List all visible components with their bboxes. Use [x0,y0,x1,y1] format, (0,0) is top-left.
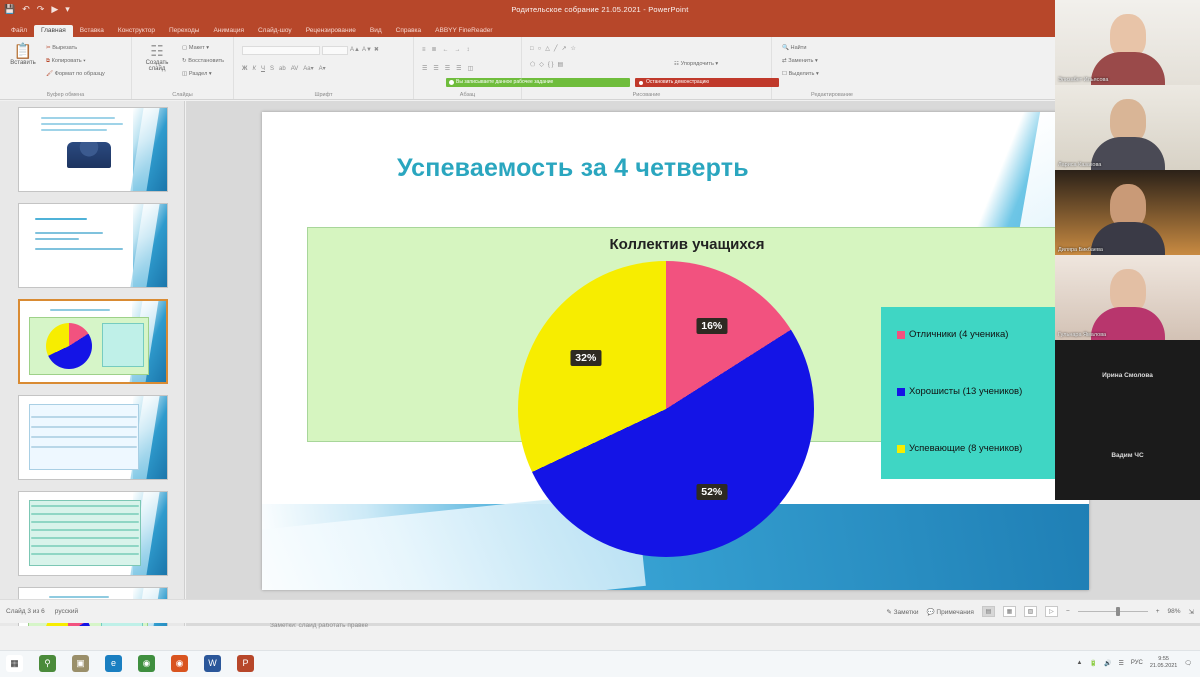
section-button[interactable]: ◫ Раздел ▾ [182,71,212,77]
powerpoint-window: 💾 ↶ ↷ ▶ ▾ Родительское собрание 21.05.20… [0,0,1200,650]
title-bar: 💾 ↶ ↷ ▶ ▾ Родительское собрание 21.05.20… [0,0,1200,22]
group-label-slides: Слайды [132,92,233,98]
justify-icon[interactable]: ☰ [456,65,461,74]
ribbon-tab-3[interactable]: Конструктор [111,25,162,37]
pie-label-2: 32% [570,350,601,366]
group-label-editing: Редактирование [772,92,892,98]
slide-thumbnail-1[interactable]: 1 [18,107,168,192]
legend-marker-1 [897,388,905,396]
video-tile-1[interactable]: Лариса Казакова [1055,85,1200,170]
participant-body [1091,137,1165,170]
legend-item-1[interactable]: Хорошисты (13 учеников) [909,386,1022,397]
participant-name: Ирина Смолова [1055,372,1200,379]
decrease-indent-icon[interactable]: ← [443,46,449,55]
pie-slices[interactable] [518,261,814,557]
paste-label: Вставить [10,60,35,66]
status-left: Слайд 3 из 6 русский [6,608,78,615]
stop-sharing-label: Остановить демонстрацию [646,79,709,85]
font-name-box[interactable] [242,46,320,55]
normal-view-button[interactable]: ▤ [982,606,995,617]
system-tray[interactable]: ▲ 🔋 🔊 ☰ РУС 9:55 21.05.2021 🗨 [1077,656,1192,670]
paste-button[interactable]: 📋 Вставить [6,43,40,66]
comments-button[interactable]: 💬 Примечания [927,608,974,616]
font-size-box[interactable] [322,46,348,55]
font-name-row[interactable]: A▲ A▼ ✖ [242,46,379,55]
legend-marker-2 [897,445,905,453]
shape-star-icon[interactable]: ☆ [571,45,576,54]
video-conference-panel[interactable]: Элизабет ИльясоваЛариса КазаковаДиляра Б… [1055,0,1200,500]
taskview-icon[interactable]: ▣ [72,655,89,672]
show-hidden-icon[interactable]: ▲ [1077,660,1083,666]
arrange-button[interactable]: ☷ Упорядочить ▾ [674,61,718,67]
italic-icon[interactable]: К [252,65,256,74]
powerpoint-icon[interactable]: P [237,655,254,672]
shapes-gallery[interactable]: □ ○ △ ╱ ↗ ☆ [530,45,576,54]
paste-icon: 📋 [6,43,40,60]
shape-callout-icon[interactable]: ▤ [558,61,564,70]
status-bar: Слайд 3 из 6 русский ✎ Заметки 💬 Примеча… [0,599,1200,623]
group-label-paragraph: Абзац [414,92,521,98]
paragraph-row-2[interactable]: ☰ ☰ ☰ ☰ ◫ [422,65,473,74]
stop-sharing-button[interactable]: Остановить демонстрацию [635,78,779,87]
shadow-icon[interactable]: S [270,65,274,74]
slide-indicator[interactable]: Слайд 3 из 6 [6,608,45,615]
slide-thumbnail-2[interactable]: 2 [18,203,168,288]
reset-button[interactable]: ↻ Восстановить [182,58,224,64]
thumb-pie-icon [46,323,92,369]
ribbon-group-font: A▲ A▼ ✖ Ж К Ч S ab AV Aa▾ A▾ Шрифт [234,37,414,99]
legend-item-0[interactable]: Отличники (4 ученика) [909,329,1008,340]
zoom-slider[interactable] [1078,606,1148,617]
participant-name: Элизабет Ильясова [1058,77,1108,83]
language-indicator[interactable]: русский [55,608,78,615]
pie-chart[interactable]: Коллектив учащихся 16%52%32% Отличники (… [307,227,1067,442]
slide-thumbnail-3[interactable]: 3 [18,299,168,384]
zoom-knob[interactable] [1116,607,1120,616]
copy-button[interactable]: ⧉ Копировать ▾ [46,58,86,65]
video-tile-3[interactable]: Гульнара Ямалова [1055,255,1200,340]
find-button[interactable]: 🔍 Найти [782,45,807,51]
ribbon: 📋 Вставить ✂ Вырезать ⧉ Копировать ▾ 🖌 Ф… [0,37,1200,100]
columns-icon[interactable]: ◫ [468,65,474,74]
shape-diamond-icon[interactable]: ◇ [539,61,544,70]
firefox-icon[interactable]: ◉ [171,655,188,672]
clear-format-icon[interactable]: ✖ [374,46,379,55]
ribbon-tab-2[interactable]: Вставка [73,25,111,37]
underline-icon[interactable]: Ч [261,65,265,74]
ribbon-tab-5[interactable]: Анимация [206,25,251,37]
shape-triangle-icon[interactable]: △ [545,45,550,54]
pie-plot-area: 16%52%32% [518,261,814,557]
ribbon-group-drawing: □ ○ △ ╱ ↗ ☆ ⬠ ◇ { } ▤ ☷ Упорядочить ▾ Ри… [522,37,772,99]
ribbon-group-paragraph: ≡ ≣ ← → ↕ ☰ ☰ ☰ ☰ ◫ Абзац [414,37,522,99]
new-slide-button[interactable]: ☷ Создать слайд [140,43,174,72]
audio-tile-1[interactable]: Вадим ЧС [1055,420,1200,500]
align-center-icon[interactable]: ☰ [433,65,438,74]
font-style-row[interactable]: Ж К Ч S ab AV Aa▾ A▾ [242,65,326,74]
screen: 💾 ↶ ↷ ▶ ▾ Родительское собрание 21.05.20… [0,0,1200,677]
chrome-icon[interactable]: ◉ [138,655,155,672]
recording-banner[interactable]: Вы записываете данное рабочее задание [446,78,630,87]
slide-stage: Успеваемость за 4 четверть Коллектив уча… [186,101,1200,626]
slide-thumbnail-5[interactable]: 5 [18,491,168,576]
ribbon-group-clipboard: 📋 Вставить ✂ Вырезать ⧉ Копировать ▾ 🖌 Ф… [0,37,132,99]
search-icon[interactable]: ⚲ [39,655,56,672]
shape-pentagon-icon[interactable]: ⬠ [530,61,535,70]
legend-marker-0 [897,331,905,339]
recording-dot-icon [449,80,454,85]
grow-font-icon[interactable]: A▲ [350,46,360,55]
ribbon-tab-6[interactable]: Слайд-шоу [251,25,299,37]
participant-name: Лариса Казакова [1058,162,1101,168]
video-tile-0[interactable]: Элизабет Ильясова [1055,0,1200,85]
legend-item-2[interactable]: Успевающие (8 учеников) [909,443,1022,454]
legend-label-0: Отличники (4 ученика) [909,329,1008,340]
shapes-gallery-2[interactable]: ⬠ ◇ { } ▤ [530,61,563,70]
shape-arrow-icon[interactable]: ↗ [562,45,567,54]
fit-to-window-icon[interactable]: ⇲ [1189,608,1194,616]
pie-label-1: 52% [696,484,727,500]
ribbon-group-editing: 🔍 Найти ⇄ Заменить ▾ ☐ Выделить ▾ Редакт… [772,37,892,99]
participant-name: Диляра Бикбаева [1058,247,1103,253]
word-icon[interactable]: W [204,655,221,672]
bullets-icon[interactable]: ≡ [422,46,426,55]
participant-name: Гульнара Ямалова [1058,332,1106,338]
shape-line-icon[interactable]: ╱ [554,45,558,54]
sorter-view-button[interactable]: ▦ [1003,606,1016,617]
current-slide[interactable]: Успеваемость за 4 четверть Коллектив уча… [262,112,1089,590]
paragraph-row-1[interactable]: ≡ ≣ ← → ↕ [422,46,470,55]
new-slide-label: Создать слайд [146,60,169,72]
network-icon[interactable]: ☰ [1118,660,1123,667]
document-title: Родительское собрание 21.05.2021 - Power… [0,5,1200,14]
slide-thumbnail-4[interactable]: 4 [18,395,168,480]
ribbon-tab-10[interactable]: ABBYY FineReader [428,25,499,37]
start-icon[interactable]: ▦ [6,655,23,672]
ribbon-tabs[interactable]: ФайлГлавнаяВставкаКонструкторПереходыАни… [0,22,1200,37]
ribbon-tab-0[interactable]: Файл [4,25,34,37]
format-painter-button[interactable]: 🖌 Формат по образцу [46,71,105,77]
audio-tile-0[interactable]: Ирина Смолова [1055,340,1200,420]
shape-bracket-icon[interactable]: { } [548,61,554,70]
ribbon-tab-7[interactable]: Рецензирование [299,25,363,37]
numbering-icon[interactable]: ≣ [432,46,437,55]
notes-button[interactable]: ✎ Заметки [886,608,918,616]
pie-label-0: 16% [696,318,727,334]
ribbon-tab-8[interactable]: Вид [363,25,389,37]
legend-label-1: Хорошисты (13 учеников) [909,386,1022,397]
shape-rect-icon[interactable]: □ [530,45,534,54]
zoom-in-button[interactable]: + [1156,608,1160,615]
edge-icon[interactable]: e [105,655,122,672]
lang-icon[interactable]: РУС [1131,660,1143,666]
layout-button[interactable]: ▢ Макет ▾ [182,45,209,51]
char-spacing-icon[interactable]: AV [291,65,299,74]
new-slide-icon: ☷ [140,43,174,60]
stop-dot-icon [639,81,643,85]
taskbar-icons[interactable]: ▦⚲▣e◉◉WP [6,655,254,672]
increase-indent-icon[interactable]: → [455,46,461,55]
ribbon-tab-1[interactable]: Главная [34,25,73,37]
zoom-track [1078,611,1148,612]
notifications-icon[interactable]: 🗨 [1184,660,1192,667]
ribbon-group-slides: ☷ Создать слайд ▢ Макет ▾ ↻ Восстановить… [132,37,234,99]
group-label-font: Шрифт [234,92,413,98]
zoom-out-button[interactable]: − [1066,608,1070,615]
ribbon-tab-4[interactable]: Переходы [162,25,207,37]
change-case-icon[interactable]: Aa▾ [303,65,313,74]
font-color-icon[interactable]: A▾ [319,65,326,74]
legend-label-2: Успевающие (8 учеников) [909,443,1022,454]
align-left-icon[interactable]: ☰ [422,65,427,74]
taskbar[interactable]: ▦⚲▣e◉◉WP ▲ 🔋 🔊 ☰ РУС 9:55 21.05.2021 🗨 [0,650,1200,677]
thumb-people-icon [67,142,111,168]
video-tile-2[interactable]: Диляра Бикбаева [1055,170,1200,255]
slide-title[interactable]: Успеваемость за 4 четверть [397,154,749,183]
slideshow-view-button[interactable]: ▷ [1045,606,1058,617]
participant-name: Вадим ЧС [1055,452,1200,459]
notes-placeholder[interactable]: Заметки: слайд работать правке [270,622,368,629]
recording-banner-label: Вы записываете данное рабочее задание [456,79,553,85]
bold-icon[interactable]: Ж [242,65,247,74]
status-right[interactable]: ✎ Заметки 💬 Примечания ▤ ▦ ▧ ▷ − + 98% ⇲ [886,606,1194,617]
slide-thumbnail-pane[interactable]: 123456 [0,101,185,626]
shape-circle-icon[interactable]: ○ [538,45,542,54]
line-spacing-icon[interactable]: ↕ [467,46,470,55]
chart-title: Коллектив учащихся [308,236,1066,253]
cut-button[interactable]: ✂ Вырезать [46,45,77,51]
align-right-icon[interactable]: ☰ [445,65,450,74]
volume-icon[interactable]: 🔊 [1104,660,1111,667]
shrink-font-icon[interactable]: A▼ [362,46,372,55]
clock-time: 9:55 [1158,656,1169,662]
reading-view-button[interactable]: ▧ [1024,606,1037,617]
strikethrough-icon[interactable]: ab [279,65,286,74]
zoom-level[interactable]: 98% [1168,608,1181,615]
ribbon-tab-9[interactable]: Справка [389,25,429,37]
battery-icon[interactable]: 🔋 [1089,660,1096,667]
clock-date: 21.05.2021 [1150,663,1178,669]
replace-button[interactable]: ⇄ Заменить ▾ [782,58,818,64]
group-label-drawing: Рисование [522,92,771,98]
select-button[interactable]: ☐ Выделить ▾ [782,71,819,77]
clock[interactable]: 9:55 21.05.2021 [1150,656,1178,670]
group-label-clipboard: Буфер обмена [0,92,131,98]
